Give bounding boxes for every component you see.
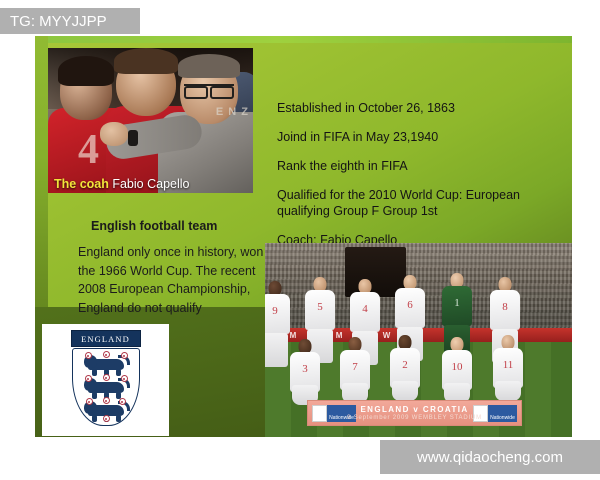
crest-banner: ENGLAND [71,330,141,347]
tudor-rose-icon [86,398,93,405]
fact-joined-fifa: Joind in FIFA in May 23,1940 [277,129,557,145]
tudor-rose-icon [85,375,92,382]
slide-top-accent-strip [35,36,572,43]
screenshot-stage: 4 E N Z The coah Fabio Capello English f… [0,0,600,480]
watermark-bottom-url: www.qidaocheng.com [380,440,600,474]
match-banner-title: ENGLAND v CROATIA [308,405,521,414]
presentation-slide: 4 E N Z The coah Fabio Capello English f… [35,36,572,437]
tudor-rose-icon [103,397,110,404]
tudor-rose-icon [121,375,128,382]
match-banner-subtitle: 9 September 2009 WEMBLEY STADIUM [308,415,521,421]
player-number: 1 [454,297,460,309]
tudor-rose-icon [121,352,128,359]
england-crest-card: ENGLAND [42,324,169,436]
facts-list: Established in October 26, 1863 Joind in… [277,100,557,261]
background-signage-text: E N Z [216,106,249,119]
tudor-rose-icon [103,415,110,422]
caption-highlight: The coah [54,177,109,191]
player-number: 7 [352,361,358,373]
fact-world-cup-qualification: Qualified for the 2010 World Cup: Europe… [277,187,557,219]
match-banner: Nationwide Nationwide ENGLAND v CROATIA … [307,400,522,426]
watermark-bottom-text: www.qidaocheng.com [417,449,563,466]
second-player-hair [114,48,178,74]
coach-photo: 4 E N Z The coah Fabio Capello [48,48,253,193]
player-legs [495,381,521,401]
tudor-rose-icon [85,352,92,359]
player-legs [265,333,288,367]
watermark-top-text: TG: MYYJJPP [10,13,107,30]
player-hair [58,56,114,86]
player-number: 3 [302,363,308,375]
crest-banner-label: ENGLAND [81,334,130,344]
player-number: 9 [272,305,278,317]
tudor-rose-icon [119,398,126,405]
glasses-icon [184,84,234,93]
player-number: 10 [452,361,463,373]
tudor-rose-icon [103,374,110,381]
player-legs [392,381,418,401]
wristwatch [128,130,138,146]
team-heading: English football team [91,219,217,233]
player-number: 5 [317,301,323,313]
player-number: 6 [407,299,413,311]
player-shirt-number: 4 [78,126,99,174]
player-number: 2 [402,359,408,371]
fact-fifa-rank: Rank the eighth in FIFA [277,158,557,174]
player-number: 11 [503,359,514,371]
crest-shield [72,348,140,426]
player-number: 8 [502,301,508,313]
england-crest-icon: ENGLAND [63,330,149,430]
player-number: 4 [362,303,368,315]
tudor-rose-icon [103,351,110,358]
coach-photo-caption: The coah Fabio Capello [54,177,189,191]
team-photo: VEM FA M TO W Y 9 5 4 [265,243,572,437]
coach-hand [100,122,128,146]
coach-hair [178,54,240,78]
watermark-top-tag: TG: MYYJJPP [0,8,140,34]
team-description-paragraph: England only once in history, won the 19… [78,243,283,317]
fact-established: Established in October 26, 1863 [277,100,557,116]
caption-rest: Fabio Capello [109,177,190,191]
